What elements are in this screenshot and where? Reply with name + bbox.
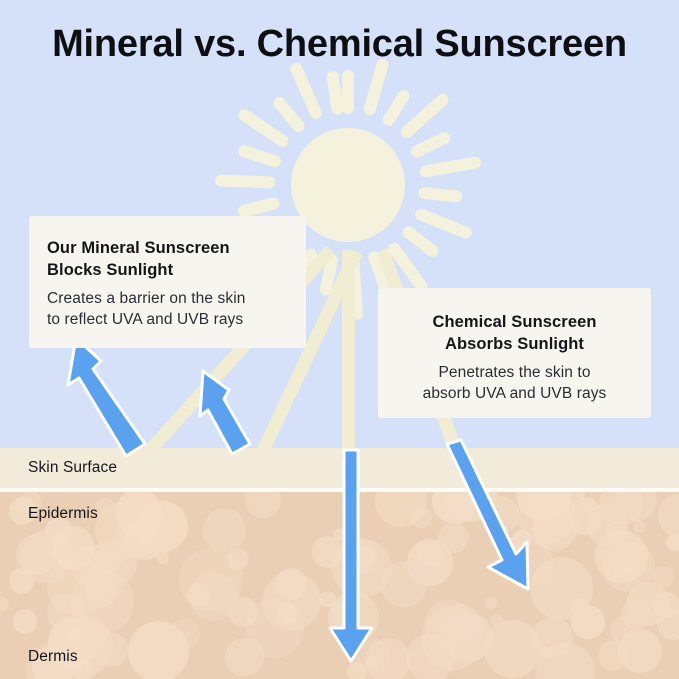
page-title: Mineral vs. Chemical Sunscreen — [0, 22, 679, 66]
card-chemical-heading-line1: Chemical Sunscreen — [432, 313, 596, 331]
absorbed-ray-arrow-icon — [447, 440, 528, 589]
card-chemical-body-line2: absorb UVA and UVB rays — [423, 385, 607, 402]
card-mineral-heading: Our Mineral Sunscreen Blocks Sunlight — [47, 238, 286, 282]
card-chemical-sunscreen: Chemical Sunscreen Absorbs Sunlight Pene… — [378, 288, 651, 418]
reflected-ray-arrow-icon — [68, 338, 145, 456]
card-chemical-heading-line2: Absorbs Sunlight — [445, 335, 584, 353]
absorbed-ray-arrow-icon — [330, 450, 372, 661]
card-chemical-heading: Chemical Sunscreen Absorbs Sunlight — [396, 312, 633, 356]
card-mineral-sunscreen: Our Mineral Sunscreen Blocks Sunlight Cr… — [29, 216, 306, 348]
card-chemical-body-line1: Penetrates the skin to — [438, 364, 590, 381]
card-mineral-body: Creates a barrier on the skin to reflect… — [47, 288, 286, 331]
card-chemical-body: Penetrates the skin to absorb UVA and UV… — [396, 362, 633, 405]
card-mineral-heading-line1: Our Mineral Sunscreen — [47, 239, 230, 257]
card-mineral-body-line2: to reflect UVA and UVB rays — [47, 311, 243, 328]
card-mineral-body-line1: Creates a barrier on the skin — [47, 290, 245, 307]
infographic-canvas: Skin Surface Epidermis Dermis Mineral vs… — [0, 0, 679, 679]
reflected-ray-arrow-icon — [200, 371, 250, 454]
card-mineral-heading-line2: Blocks Sunlight — [47, 261, 173, 279]
